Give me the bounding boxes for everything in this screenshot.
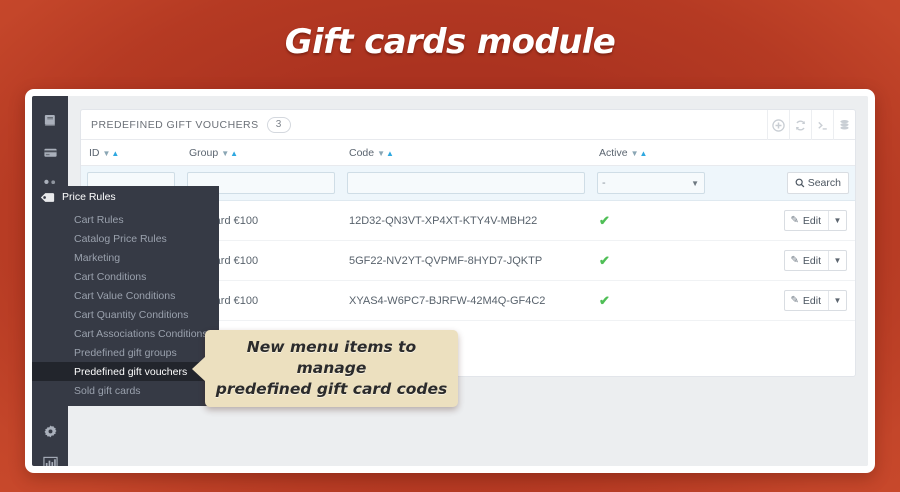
edit-button[interactable]: ✎ Edit ▼ [784,210,847,231]
cell-active: ✔ [591,281,711,321]
screenshot-stage: Gift cards module [0,0,900,492]
active-check-icon: ✔ [599,293,610,308]
column-header-group[interactable]: Group▼▲ [181,140,341,166]
column-label-id: ID [89,147,100,159]
menu-item-sold-gift-cards[interactable]: Sold gift cards [32,381,219,400]
app-window: PREDEFINED GIFT VOUCHERS 3 [25,89,875,473]
annotation-line-2: predefined gift card codes [216,380,448,398]
price-rules-flyout-menu: Price Rules Cart Rules Catalog Price Rul… [32,186,219,406]
panel-title: PREDEFINED GIFT VOUCHERS [91,119,259,131]
filter-cell-search: Search [711,166,855,201]
refresh-icon[interactable] [789,110,811,140]
cell-code: 12D32-QN3VT-XP4XT-KTY4V-MBH22 [341,201,591,241]
cell-code: 5GF22-NV2YT-QVPMF-8HYD7-JQKTP [341,241,591,281]
filter-input-code[interactable] [347,172,585,194]
annotation-line-1: New menu items to manage [247,338,416,377]
edit-button[interactable]: ✎ Edit ▼ [784,290,847,311]
export-database-icon[interactable] [833,110,855,140]
search-icon [795,178,805,188]
filter-cell-active: - ▼ [591,166,711,201]
menu-item-marketing[interactable]: Marketing [32,248,219,267]
flyout-items: Cart Rules Catalog Price Rules Marketing… [32,208,219,406]
panel-toolbar [767,110,855,140]
sort-arrows-code[interactable]: ▼▲ [377,147,395,159]
cell-actions: ✎ Edit ▼ [711,281,855,321]
cell-actions: ✎ Edit ▼ [711,201,855,241]
search-button-label: Search [808,177,841,189]
column-header-active[interactable]: Active▼▲ [591,140,711,166]
active-check-icon: ✔ [599,213,610,228]
edit-button-label: Edit [803,215,821,227]
flyout-header-label: Price Rules [62,191,116,203]
edit-button-label-wrap: ✎ Edit [785,255,828,267]
edit-dropdown-toggle[interactable]: ▼ [828,251,846,270]
annotation-callout: New menu items to manage predefined gift… [205,330,458,407]
edit-button-label: Edit [803,255,821,267]
column-label-code: Code [349,147,374,159]
pencil-icon: ✎ [791,255,799,266]
cell-active: ✔ [591,241,711,281]
menu-item-cart-conditions[interactable]: Cart Conditions [32,267,219,286]
sort-arrows-id[interactable]: ▼▲ [103,147,121,159]
menu-item-cart-quantity-conditions[interactable]: Cart Quantity Conditions [32,305,219,324]
catalog-icon[interactable] [32,104,68,136]
advanced-gear-icon[interactable] [32,415,68,447]
menu-item-predefined-gift-groups[interactable]: Predefined gift groups [32,343,219,362]
column-label-active: Active [599,147,628,159]
price-tag-icon [40,191,55,204]
search-button[interactable]: Search [787,172,849,194]
menu-item-cart-value-conditions[interactable]: Cart Value Conditions [32,286,219,305]
pencil-icon: ✎ [791,215,799,226]
edit-button-label-wrap: ✎ Edit [785,295,828,307]
cell-actions: ✎ Edit ▼ [711,241,855,281]
record-count-badge: 3 [267,117,291,133]
column-header-actions [711,140,855,166]
cell-code: XYAS4-W6PC7-BJRFW-42M4Q-GF4C2 [341,281,591,321]
column-header-code[interactable]: Code▼▲ [341,140,591,166]
page-title: Gift cards module [0,22,900,62]
column-header-id[interactable]: ID▼▲ [81,140,181,166]
edit-button[interactable]: ✎ Edit ▼ [784,250,847,271]
table-header-row: ID▼▲ Group▼▲ Code▼▲ Active▼▲ [81,140,855,166]
sort-arrows-group[interactable]: ▼▲ [221,147,239,159]
menu-item-cart-associations-conditions[interactable]: Cart Associations Conditions [32,324,219,343]
cell-active: ✔ [591,201,711,241]
menu-item-cart-rules[interactable]: Cart Rules [32,210,219,229]
sql-console-icon[interactable] [811,110,833,140]
flyout-header[interactable]: Price Rules [32,186,219,208]
pencil-icon: ✎ [791,295,799,306]
edit-dropdown-toggle[interactable]: ▼ [828,211,846,230]
sort-arrows-active[interactable]: ▼▲ [631,147,649,159]
panel-header: PREDEFINED GIFT VOUCHERS 3 [81,110,855,140]
stats-bar-chart-icon[interactable] [32,447,68,466]
menu-item-predefined-gift-vouchers[interactable]: Predefined gift vouchers [32,362,219,381]
annotation-callout-text: New menu items to manage predefined gift… [205,337,458,400]
column-label-group: Group [189,147,218,159]
edit-button-label: Edit [803,295,821,307]
edit-dropdown-toggle[interactable]: ▼ [828,291,846,310]
menu-item-catalog-price-rules[interactable]: Catalog Price Rules [32,229,219,248]
orders-card-icon[interactable] [32,136,68,168]
app-window-inner: PREDEFINED GIFT VOUCHERS 3 [32,96,868,466]
add-new-icon[interactable] [767,110,789,140]
filter-select-active[interactable]: - [597,172,705,194]
active-check-icon: ✔ [599,253,610,268]
edit-button-label-wrap: ✎ Edit [785,215,828,227]
filter-cell-code [341,166,591,201]
